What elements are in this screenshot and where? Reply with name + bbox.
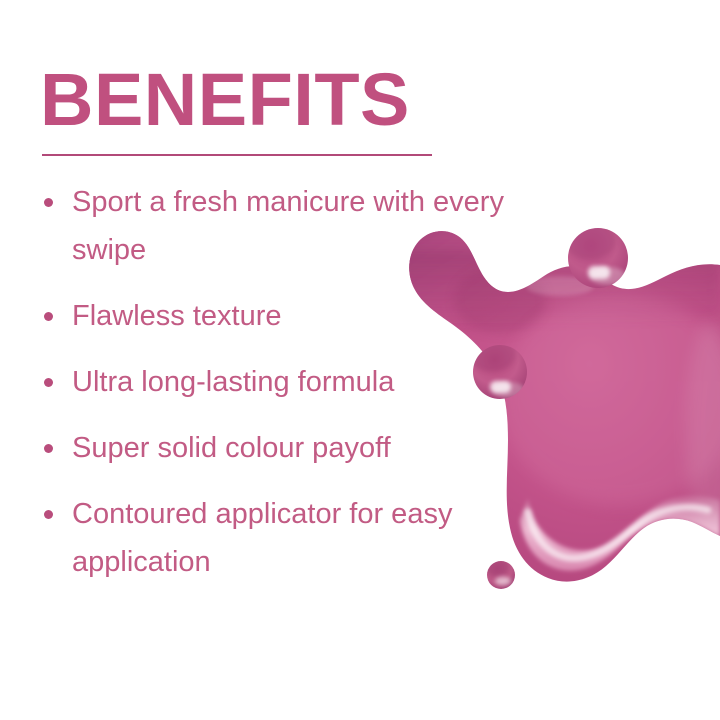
- bullet-icon: [44, 312, 53, 321]
- page-title: BENEFITS: [40, 58, 410, 142]
- list-item: Flawless texture: [40, 292, 520, 340]
- bullet-icon: [44, 378, 53, 387]
- list-item-label: Flawless texture: [72, 292, 520, 340]
- title-divider: [42, 154, 432, 156]
- list-item-label: Ultra long-lasting formula: [72, 358, 520, 406]
- benefits-poster: BENEFITS Sport a fresh manicure with eve…: [0, 0, 720, 720]
- list-item-label: Contoured applicator for easy applicatio…: [72, 490, 520, 586]
- list-item: Ultra long-lasting formula: [40, 358, 520, 406]
- content-layer: BENEFITS Sport a fresh manicure with eve…: [0, 0, 720, 720]
- list-item-label: Super solid colour payoff: [72, 424, 520, 472]
- bullet-icon: [44, 444, 53, 453]
- bullet-icon: [44, 198, 53, 207]
- list-item-label: Sport a fresh manicure with every swipe: [72, 178, 520, 274]
- bullet-icon: [44, 510, 53, 519]
- list-item: Contoured applicator for easy applicatio…: [40, 490, 520, 586]
- benefits-list: Sport a fresh manicure with every swipe …: [40, 178, 520, 604]
- list-item: Super solid colour payoff: [40, 424, 520, 472]
- list-item: Sport a fresh manicure with every swipe: [40, 178, 520, 274]
